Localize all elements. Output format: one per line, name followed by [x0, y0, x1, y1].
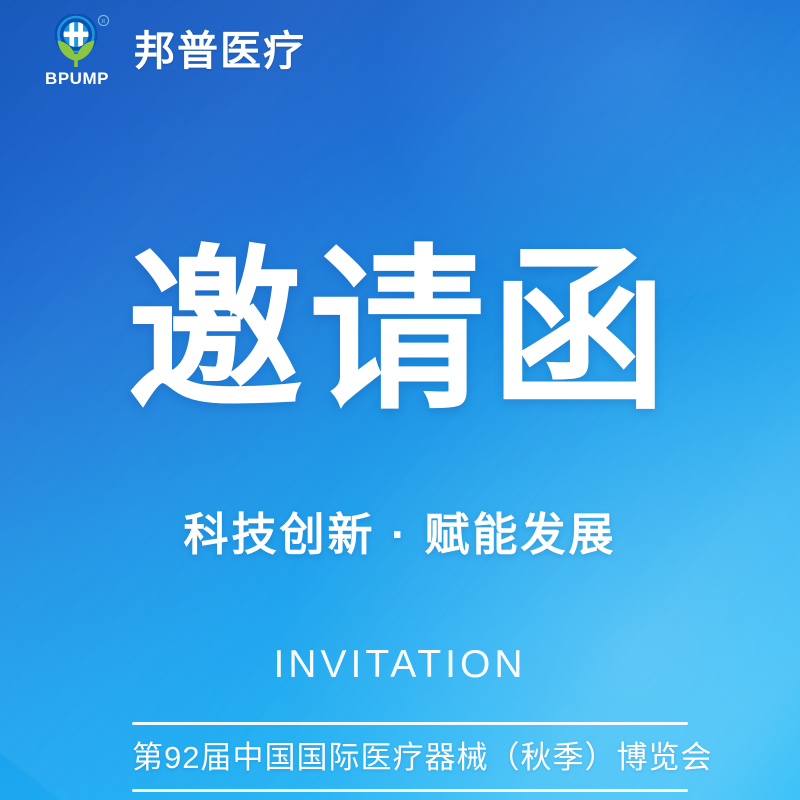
footer-rule-top [132, 722, 688, 725]
svg-text:R: R [101, 18, 106, 25]
subtitle: 科技创新 · 赋能发展 [184, 510, 617, 560]
english-title-container: INVITATION [0, 645, 800, 684]
bpump-globe-leaf-logo-icon: R BPUMP [44, 14, 116, 88]
event-name: 第92届中国国际医疗器械（秋季）博览会 [132, 725, 688, 789]
footer-rule-bottom [132, 789, 688, 792]
invitation-poster: R BPUMP 邦普医疗 邀请函 科技创新 · 赋能发展 INVITATION … [0, 0, 800, 800]
english-title: INVITATION [273, 645, 526, 684]
svg-text:BPUMP: BPUMP [45, 69, 109, 88]
main-title-container: 邀请函 [0, 244, 800, 420]
brand-name: 邦普医疗 [134, 31, 306, 72]
main-title: 邀请函 [127, 244, 673, 420]
brand-lockup: R BPUMP 邦普医疗 [44, 14, 306, 88]
subtitle-container: 科技创新 · 赋能发展 [0, 510, 800, 560]
footer-band: 第92届中国国际医疗器械（秋季）博览会 [132, 722, 688, 792]
